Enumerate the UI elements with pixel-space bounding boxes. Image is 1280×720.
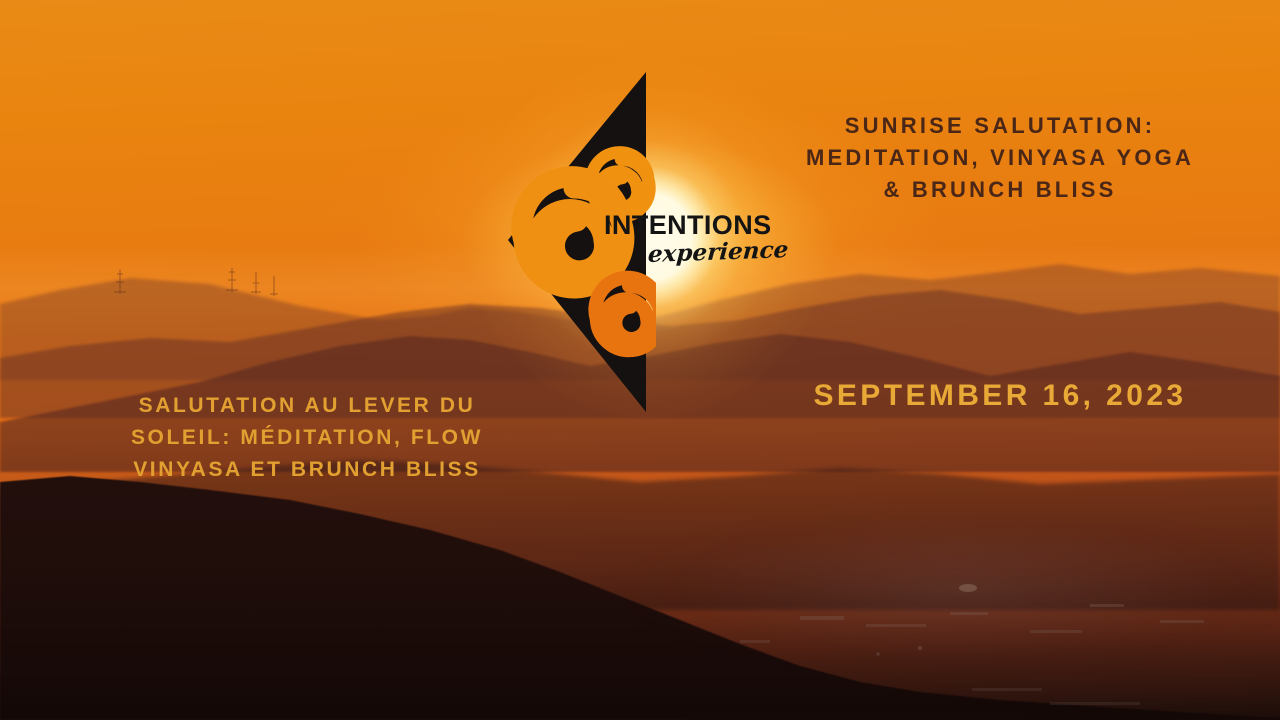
event-date: SEPTEMBER 16, 2023 <box>790 378 1210 414</box>
headline-english-line-1: SUNRISE SALUTATION: <box>760 110 1240 142</box>
headline-french: SALUTATION AU LEVER DU SOLEIL: MÉDITATIO… <box>52 390 562 486</box>
headline-french-line-3: VINYASA ET BRUNCH BLISS <box>52 454 562 486</box>
intentions-triangle-spiral-mark <box>496 60 656 420</box>
headline-english-line-2: MEDITATION, VINYASA YOGA <box>760 142 1240 174</box>
event-banner: INTENTIONS experience SUNRISE SALUTATION… <box>0 0 1280 720</box>
headline-french-line-2: SOLEIL: MÉDITATION, FLOW <box>52 422 562 454</box>
headline-french-line-1: SALUTATION AU LEVER DU <box>52 390 562 422</box>
intentions-logo[interactable] <box>496 60 656 420</box>
headline-english-line-3: & BRUNCH BLISS <box>760 174 1240 206</box>
headline-english: SUNRISE SALUTATION: MEDITATION, VINYASA … <box>760 110 1240 206</box>
